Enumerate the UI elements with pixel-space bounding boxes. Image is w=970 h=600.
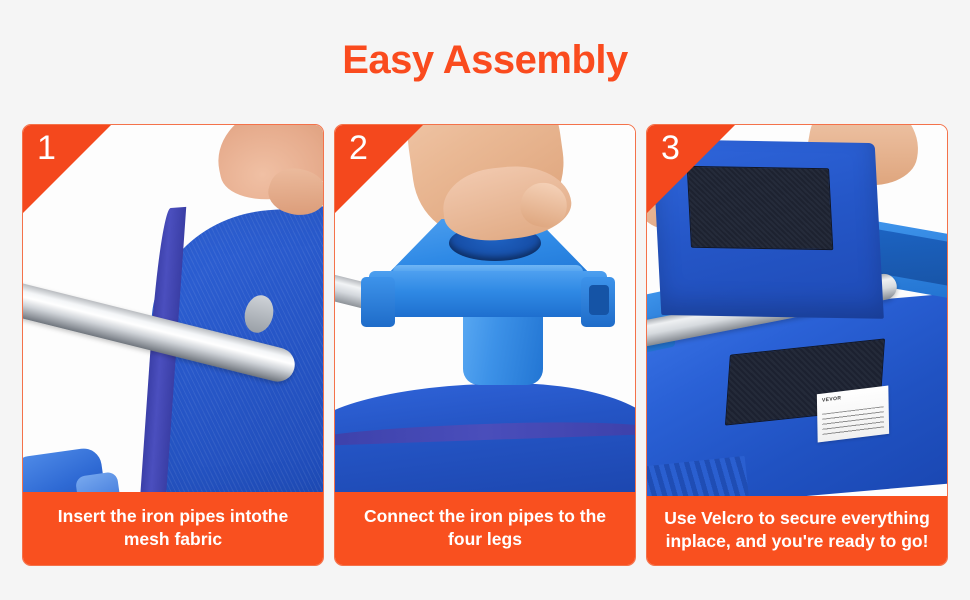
product-label-tag: VEVOR bbox=[817, 385, 889, 442]
step-1-caption: Insert the iron pipes intothe mesh fabri… bbox=[23, 492, 323, 565]
promo-banner: Easy Assembly 1 Insert t bbox=[0, 0, 970, 600]
step-card-2[interactable]: 2 Connect the iron pipes to the four leg… bbox=[334, 124, 636, 566]
step-3-caption: Use Velcro to secure everything inplace,… bbox=[647, 496, 947, 565]
connector-crossbar bbox=[369, 271, 607, 317]
steps-container: 1 Insert the iron pipes intothe mesh fab… bbox=[22, 124, 948, 566]
connector-socket-right-opening bbox=[589, 285, 609, 315]
step-1-photo: 1 bbox=[23, 125, 323, 492]
step-card-3[interactable]: VEVOR 3 Use Velcro to secure everything … bbox=[646, 124, 948, 566]
page-title: Easy Assembly bbox=[0, 38, 970, 83]
label-text-lines bbox=[822, 406, 884, 438]
step-card-1[interactable]: 1 Insert the iron pipes intothe mesh fab… bbox=[22, 124, 324, 566]
step-3-photo: VEVOR 3 bbox=[647, 125, 947, 496]
step-2-caption: Connect the iron pipes to the four legs bbox=[335, 492, 635, 565]
connector-socket-left bbox=[361, 277, 395, 327]
step-2-photo: 2 bbox=[335, 125, 635, 492]
velcro-patch-upper bbox=[687, 166, 834, 250]
label-brand-text: VEVOR bbox=[822, 395, 841, 403]
